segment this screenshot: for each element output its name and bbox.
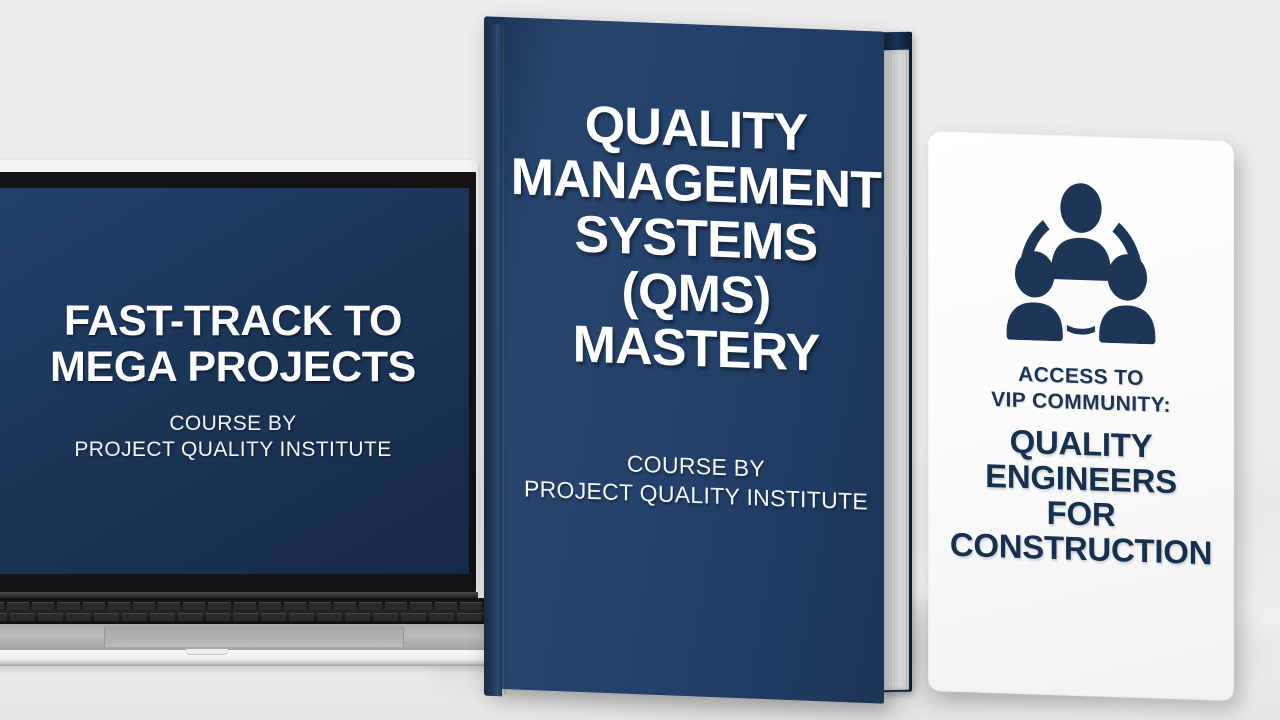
vip-community-card: ACCESS TO VIP COMMUNITY: QUALITY ENGINEE…: [928, 131, 1234, 701]
community-group-icon: [997, 177, 1165, 345]
vip-card-content: ACCESS TO VIP COMMUNITY: QUALITY ENGINEE…: [928, 131, 1234, 701]
laptop-screen-subtitle: COURSE BY PROJECT QUALITY INSTITUTE: [74, 411, 391, 465]
book-cover-subtitle: COURSE BY PROJECT QUALITY INSTITUTE: [524, 445, 868, 518]
laptop-subtitle-line-1: COURSE BY: [74, 411, 391, 438]
book-mockup: QUALITY MANAGEMENT SYSTEMS (QMS) MASTERY…: [484, 24, 936, 708]
book-spine: [484, 24, 502, 697]
laptop-trackpad: [104, 626, 404, 647]
keyboard-row-top: [0, 602, 488, 610]
laptop-title-line-2: MEGA PROJECTS: [50, 344, 416, 390]
vip-card-heading: QUALITY ENGINEERS FOR CONSTRUCTION: [950, 423, 1212, 572]
book-cover-content: QUALITY MANAGEMENT SYSTEMS (QMS) MASTERY…: [512, 17, 880, 703]
vip-heading-line-4: CONSTRUCTION: [950, 527, 1212, 571]
book-spine-groove: [503, 26, 506, 694]
laptop-base-notch: [186, 649, 228, 655]
laptop-mockup: FAST-TRACK TO MEGA PROJECTS COURSE BY PR…: [0, 160, 491, 660]
keyboard-row-bottom: [0, 613, 488, 621]
vip-kicker-line-2: VIP COMMUNITY:: [991, 387, 1171, 419]
book-cover-title: QUALITY MANAGEMENT SYSTEMS (QMS) MASTERY: [511, 95, 881, 385]
laptop-base: [0, 650, 496, 666]
laptop-screen: FAST-TRACK TO MEGA PROJECTS COURSE BY PR…: [0, 188, 469, 574]
laptop-title-line-1: FAST-TRACK TO: [50, 298, 416, 344]
laptop-lid: FAST-TRACK TO MEGA PROJECTS COURSE BY PR…: [0, 160, 478, 595]
laptop-bezel: FAST-TRACK TO MEGA PROJECTS COURSE BY PR…: [0, 172, 476, 592]
laptop-keyboard: [0, 598, 488, 626]
laptop-screen-title: FAST-TRACK TO MEGA PROJECTS: [50, 298, 416, 391]
laptop-subtitle-line-2: PROJECT QUALITY INSTITUTE: [74, 437, 391, 464]
vip-card-kicker: ACCESS TO VIP COMMUNITY:: [991, 361, 1171, 420]
